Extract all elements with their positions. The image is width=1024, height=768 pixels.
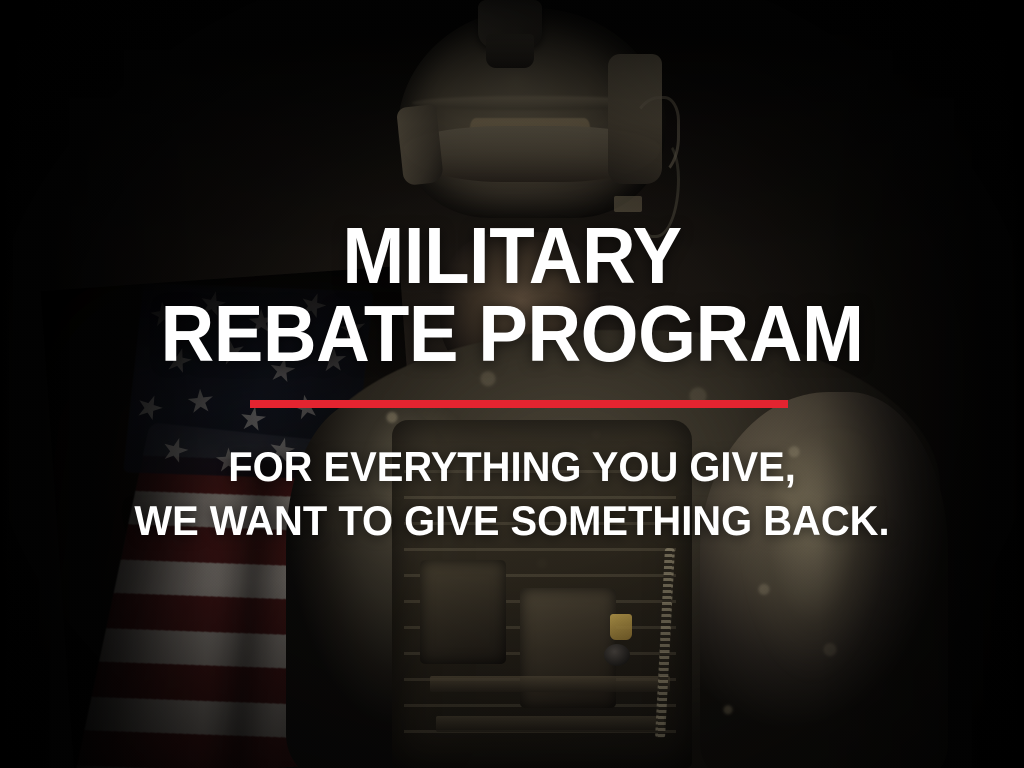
right-arm-highlight <box>742 430 910 760</box>
soldier-figure <box>0 0 1024 768</box>
helmet-rail-left <box>396 104 444 186</box>
vest-strap <box>430 676 670 692</box>
gear-knob <box>604 644 630 666</box>
gear-tab <box>610 614 632 640</box>
background-photo <box>0 0 1024 768</box>
military-rebate-poster: MILITARY REBATE PROGRAM FOR EVERYTHING Y… <box>0 0 1024 768</box>
magazine-pouch <box>420 560 506 664</box>
vest-strap <box>436 716 664 732</box>
helmet-cable <box>640 140 680 238</box>
nvg-shroud <box>486 34 534 68</box>
helmet-patch <box>614 196 642 212</box>
red-divider-rule <box>250 400 788 408</box>
